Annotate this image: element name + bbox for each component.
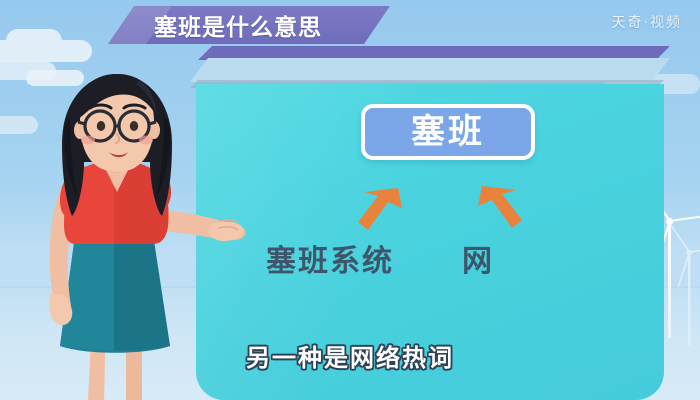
video-frame: 塞班 塞班系统 网 塞班是什么意思 天奇·视频 另一种是网络热词 [0, 0, 700, 400]
panel-layer-purple [198, 46, 670, 60]
keyword-label: 塞班 [411, 115, 485, 149]
title-banner-text: 塞班是什么意思 [154, 8, 322, 42]
keyword-box: 塞班 [361, 104, 535, 160]
arrow-down-right-icon [478, 184, 522, 230]
branch-label-2: 网 [462, 240, 494, 284]
watermark-logo: 天奇·视频 [612, 12, 682, 32]
branch-label-row: 塞班系统 网 [196, 240, 664, 284]
panel-layer-lightblue [190, 58, 670, 82]
title-banner: 塞班是什么意思 [108, 6, 390, 44]
arrow-down-left-icon [358, 186, 402, 232]
branch-label-1: 塞班系统 [266, 240, 394, 284]
avatar [14, 58, 244, 400]
